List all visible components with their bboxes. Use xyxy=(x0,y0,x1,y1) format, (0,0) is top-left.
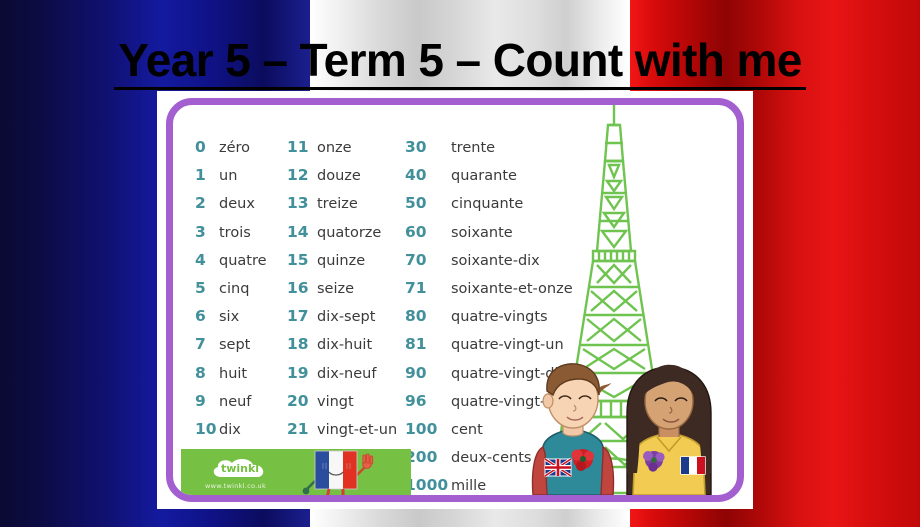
french-flag-patch xyxy=(681,457,705,474)
two-children-illustration xyxy=(523,343,733,495)
number-word: deux xyxy=(219,196,255,212)
number-word: dix-huit xyxy=(317,337,372,353)
number-value: 71 xyxy=(405,279,451,297)
number-word: trente xyxy=(451,140,495,156)
union-jack-patch xyxy=(545,459,571,476)
slide-canvas: Year 5 – Term 5 – Count with me xyxy=(0,0,920,527)
number-row: 5cinq xyxy=(195,279,287,307)
number-row: 80quatre-vingts xyxy=(405,307,605,335)
number-word: quatorze xyxy=(317,225,381,241)
number-row: 3trois xyxy=(195,223,287,251)
number-value: 3 xyxy=(195,223,219,241)
number-row: 30trente xyxy=(405,138,605,166)
number-value: 1 xyxy=(195,166,219,184)
number-word: vingt-et-un xyxy=(317,422,397,438)
number-value: 80 xyxy=(405,307,451,325)
number-value: 50 xyxy=(405,194,451,212)
number-row: 40quarante xyxy=(405,166,605,194)
number-word: six xyxy=(219,309,239,325)
number-word: dix xyxy=(219,422,241,438)
number-row: 7sept xyxy=(195,335,287,363)
number-row: 14quatorze xyxy=(287,223,405,251)
number-value: 19 xyxy=(287,364,317,382)
number-row: 17dix-sept xyxy=(287,307,405,335)
number-word: deux-cents xyxy=(451,450,531,466)
number-value: 21 xyxy=(287,420,317,438)
twinkl-footer-bar: twinkl www.twinkl.co.uk xyxy=(181,449,411,495)
number-row: 15quinze xyxy=(287,251,405,279)
number-word: sept xyxy=(219,337,250,353)
number-word: quarante xyxy=(451,168,517,184)
poster-card-content: 0zéro 1un 2deux 3trois 4quatre 5cinq 6si… xyxy=(173,105,737,495)
number-row: 16seize xyxy=(287,279,405,307)
slide-title-text: Year 5 – Term 5 – Count with me xyxy=(114,36,806,90)
number-row: 6six xyxy=(195,307,287,335)
number-value: 13 xyxy=(287,194,317,212)
number-row: 50cinquante xyxy=(405,194,605,222)
number-row: 11onze xyxy=(287,138,405,166)
slide-title: Year 5 – Term 5 – Count with me xyxy=(0,36,920,90)
number-value: 96 xyxy=(405,392,451,410)
number-value: 30 xyxy=(405,138,451,156)
number-row: 19dix-neuf xyxy=(287,364,405,392)
number-row: 8huit xyxy=(195,364,287,392)
number-row: 13treize xyxy=(287,194,405,222)
number-word: treize xyxy=(317,196,358,212)
number-row: 4quatre xyxy=(195,251,287,279)
number-word: zéro xyxy=(219,140,250,156)
number-row: 2deux xyxy=(195,194,287,222)
number-word: un xyxy=(219,168,237,184)
number-value: 6 xyxy=(195,307,219,325)
number-word: vingt xyxy=(317,394,354,410)
number-word: trois xyxy=(219,225,251,241)
number-value: 14 xyxy=(287,223,317,241)
french-flag-mascot-icon xyxy=(299,445,377,495)
number-row: 9neuf xyxy=(195,392,287,420)
number-value: 16 xyxy=(287,279,317,297)
number-value: 2 xyxy=(195,194,219,212)
number-row: 1un xyxy=(195,166,287,194)
number-value: 200 xyxy=(405,448,451,466)
number-value: 9 xyxy=(195,392,219,410)
number-value: 0 xyxy=(195,138,219,156)
number-value: 60 xyxy=(405,223,451,241)
number-row: 18dix-huit xyxy=(287,335,405,363)
poster-card-border: 0zéro 1un 2deux 3trois 4quatre 5cinq 6si… xyxy=(166,98,744,502)
number-row: 70soixante-dix xyxy=(405,251,605,279)
number-value: 12 xyxy=(287,166,317,184)
number-word: dix-sept xyxy=(317,309,375,325)
number-word: soixante xyxy=(451,225,513,241)
poster-card: 0zéro 1un 2deux 3trois 4quatre 5cinq 6si… xyxy=(157,91,753,509)
twinkl-url-text: www.twinkl.co.uk xyxy=(205,482,266,490)
number-word: cinquante xyxy=(451,196,523,212)
twinkl-logo: twinkl xyxy=(209,457,271,481)
twinkl-brand-text: twinkl xyxy=(209,462,271,475)
number-value: 15 xyxy=(287,251,317,269)
number-row: 71soixante-et-onze xyxy=(405,279,605,307)
number-word: mille xyxy=(451,478,486,494)
number-value: 8 xyxy=(195,364,219,382)
number-row: 60soixante xyxy=(405,223,605,251)
number-word: cent xyxy=(451,422,483,438)
number-value: 11 xyxy=(287,138,317,156)
number-row: 10dix xyxy=(195,420,287,448)
number-value: 100 xyxy=(405,420,451,438)
number-value: 17 xyxy=(287,307,317,325)
number-column-1: 0zéro 1un 2deux 3trois 4quatre 5cinq 6si… xyxy=(195,138,287,495)
number-word: huit xyxy=(219,366,247,382)
number-value: 70 xyxy=(405,251,451,269)
number-word: douze xyxy=(317,168,361,184)
number-word: soixante-dix xyxy=(451,253,540,269)
number-word: quatre xyxy=(219,253,267,269)
number-value: 1000 xyxy=(405,476,451,494)
number-value: 5 xyxy=(195,279,219,297)
number-word: neuf xyxy=(219,394,251,410)
girl-figure xyxy=(627,365,711,495)
number-word: quatre-vingts xyxy=(451,309,548,325)
number-word: dix-neuf xyxy=(317,366,376,382)
number-value: 4 xyxy=(195,251,219,269)
number-value: 7 xyxy=(195,335,219,353)
number-word: cinq xyxy=(219,281,249,297)
number-value: 40 xyxy=(405,166,451,184)
number-value: 18 xyxy=(287,335,317,353)
number-word: quinze xyxy=(317,253,365,269)
number-word: onze xyxy=(317,140,352,156)
boy-figure xyxy=(532,364,613,495)
number-row: 0zéro xyxy=(195,138,287,166)
number-value: 90 xyxy=(405,364,451,382)
number-value: 81 xyxy=(405,335,451,353)
number-word: seize xyxy=(317,281,354,297)
number-value: 20 xyxy=(287,392,317,410)
number-row: 21vingt-et-un xyxy=(287,420,405,448)
number-value: 10 xyxy=(195,420,219,438)
number-row: 20vingt xyxy=(287,392,405,420)
number-column-2: 11onze 12douze 13treize 14quatorze 15qui… xyxy=(287,138,405,495)
number-word: soixante-et-onze xyxy=(451,281,573,297)
number-row: 12douze xyxy=(287,166,405,194)
